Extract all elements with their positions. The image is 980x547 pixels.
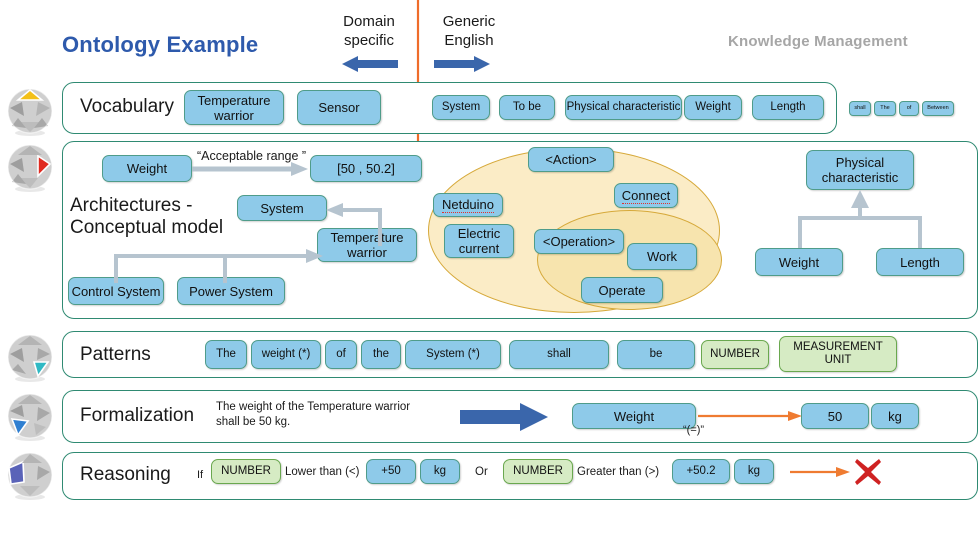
arch-box-weight-leaf[interactable]: Weight: [755, 248, 843, 276]
polyhedron-icon-reasoning: [4, 450, 56, 502]
pattern-token-of[interactable]: of: [325, 340, 357, 369]
page-title: Ontology Example: [62, 32, 258, 58]
arrow-left-icon: [342, 56, 398, 72]
arch-box-physical-characteristic[interactable]: Physical characteristic: [806, 150, 914, 190]
term-shall[interactable]: shall: [849, 101, 871, 116]
arch-box-work[interactable]: Work: [627, 243, 697, 270]
pattern-token-be[interactable]: be: [617, 340, 695, 369]
arch-box-temperature-warrior[interactable]: Temperature warrior: [317, 228, 417, 262]
architectures-title-line1: Architectures -: [70, 195, 240, 217]
red-cross-icon: [853, 457, 883, 487]
arch-box-control-system[interactable]: Control System: [68, 277, 164, 305]
pattern-token-the[interactable]: The: [205, 340, 247, 369]
pattern-token-weight[interactable]: weight (*): [251, 340, 321, 369]
polyhedron-icon-patterns: [4, 332, 56, 384]
netduino-label: Netduino: [442, 197, 494, 213]
equals-relation-label: “(=)”: [683, 424, 704, 436]
reasoning-row-title: Reasoning: [80, 464, 171, 486]
reasoning-number-1[interactable]: NUMBER: [211, 459, 281, 484]
arch-box-length-leaf[interactable]: Length: [876, 248, 964, 276]
arch-box-power-system[interactable]: Power System: [177, 277, 285, 305]
arch-box-electric-current[interactable]: Electric current: [444, 224, 514, 258]
domain-specific-line2: specific: [330, 31, 408, 50]
acceptable-range-label: “Acceptable range ”: [197, 149, 306, 163]
term-of[interactable]: of: [899, 101, 919, 116]
polyhedron-icon-architectures: [4, 142, 56, 194]
architectures-title-line2: Conceptual model: [70, 217, 240, 239]
generic-english-line1: Generic: [430, 12, 508, 31]
reasoning-unit-1[interactable]: kg: [420, 459, 460, 484]
block-arrow-right-icon: [460, 403, 548, 431]
arch-box-action[interactable]: <Action>: [528, 147, 614, 172]
arch-box-system[interactable]: System: [237, 195, 327, 221]
formalization-sentence-line1: The weight of the Temperature warrior: [216, 400, 456, 415]
reasoning-value-1[interactable]: +50: [366, 459, 416, 484]
generic-english-line2: English: [430, 31, 508, 50]
reasoning-number-2[interactable]: NUMBER: [503, 459, 573, 484]
reasoning-or-label: Or: [475, 466, 488, 478]
polyhedron-icon-formalization: [4, 391, 56, 443]
pattern-token-system[interactable]: System (*): [405, 340, 501, 369]
generic-english-label: Generic English: [430, 12, 508, 50]
architectures-row-title: Architectures - Conceptual model: [70, 195, 240, 239]
term-physical-characteristic[interactable]: Physical characteristic: [565, 95, 682, 120]
domain-specific-label: Domain specific: [330, 12, 408, 50]
formalization-sentence-line2: shall be 50 kg.: [216, 415, 456, 430]
connect-label: Connect: [622, 188, 670, 204]
term-weight[interactable]: Weight: [684, 95, 742, 120]
term-system[interactable]: System: [432, 95, 490, 120]
formalization-row-title: Formalization: [80, 405, 194, 427]
reasoning-if-label: If: [197, 469, 203, 481]
reasoning-unit-2[interactable]: kg: [734, 459, 774, 484]
arch-box-acceptable-range[interactable]: [50 , 50.2]: [310, 155, 422, 182]
term-sensor[interactable]: Sensor: [297, 90, 381, 125]
term-the[interactable]: The: [874, 101, 896, 116]
arch-box-netduino[interactable]: Netduino: [433, 193, 503, 217]
knowledge-management-title: Knowledge Management: [728, 33, 908, 50]
pattern-token-shall[interactable]: shall: [509, 340, 609, 369]
arch-box-operation[interactable]: <Operation>: [534, 229, 624, 254]
formalization-box-value[interactable]: 50: [801, 403, 869, 429]
reasoning-value-2[interactable]: +50.2: [672, 459, 730, 484]
pattern-token-number[interactable]: NUMBER: [701, 340, 769, 369]
arch-box-operate[interactable]: Operate: [581, 277, 663, 303]
pattern-token-the-2[interactable]: the: [361, 340, 401, 369]
term-length[interactable]: Length: [752, 95, 824, 120]
reasoning-greater-than-label: Greater than (>): [577, 466, 659, 478]
reasoning-lower-than-label: Lower than (<): [285, 466, 359, 478]
term-to-be[interactable]: To be: [499, 95, 555, 120]
term-temperature-warrior[interactable]: Temperature warrior: [184, 90, 284, 125]
patterns-row-title: Patterns: [80, 344, 151, 366]
pattern-token-measurement-unit[interactable]: MEASUREMENT UNIT: [779, 336, 897, 372]
arch-box-connect[interactable]: Connect: [614, 183, 678, 208]
vocabulary-row-title: Vocabulary: [80, 96, 174, 118]
formalization-box-unit[interactable]: kg: [871, 403, 919, 429]
arrow-right-icon: [434, 56, 490, 72]
domain-specific-line1: Domain: [330, 12, 408, 31]
term-between[interactable]: Between: [922, 101, 954, 116]
polyhedron-icon-vocabulary: [4, 86, 56, 138]
formalization-box-weight[interactable]: Weight: [572, 403, 696, 429]
arch-box-weight[interactable]: Weight: [102, 155, 192, 182]
formalization-sentence: The weight of the Temperature warrior sh…: [216, 400, 456, 430]
